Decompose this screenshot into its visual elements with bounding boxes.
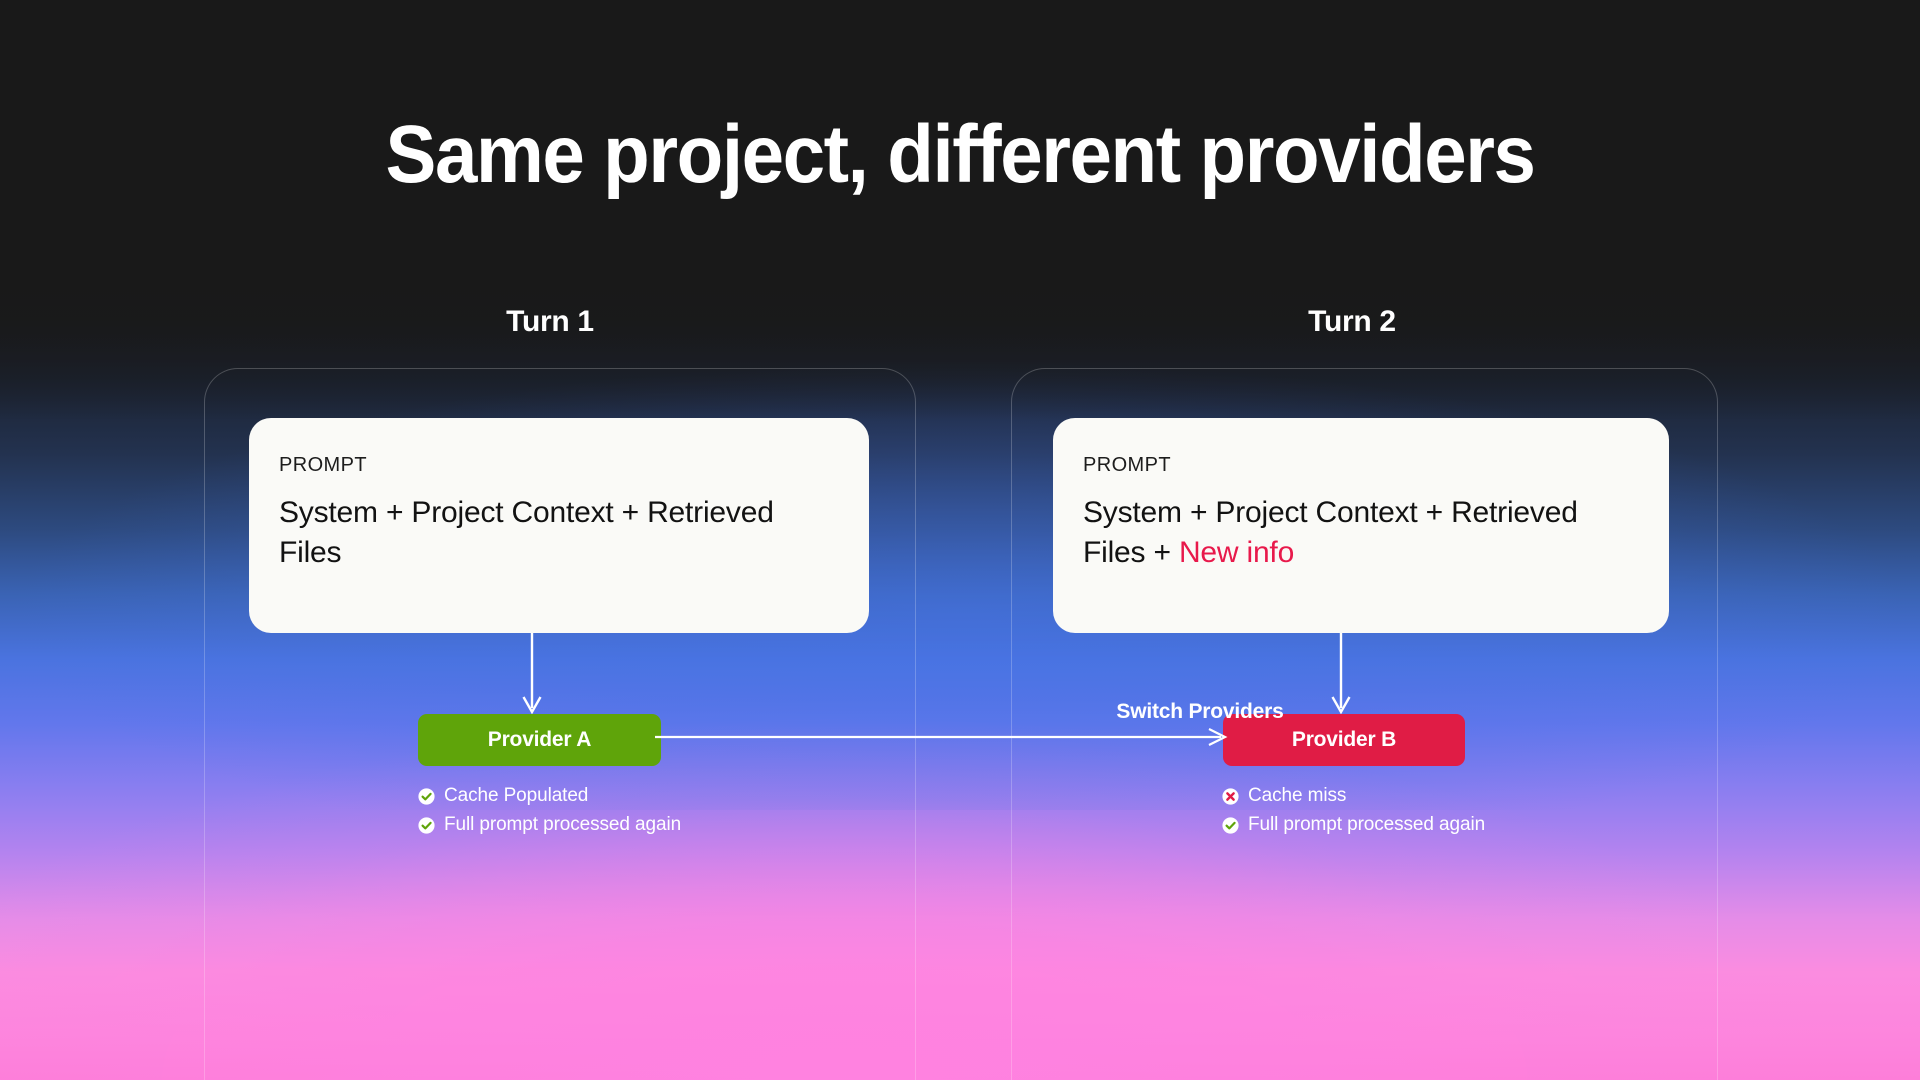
list-item-label: Full prompt processed again	[1248, 814, 1485, 836]
list-item: Full prompt processed again	[1222, 814, 1485, 836]
switch-providers-label: Switch Providers	[700, 700, 1700, 724]
provider-a-label: Provider A	[488, 728, 591, 752]
prompt-kicker: PROMPT	[1083, 454, 1639, 477]
list-item: Cache miss	[1222, 785, 1485, 807]
turn-1-heading: Turn 1	[420, 305, 680, 339]
prompt-body-highlight: New info	[1179, 536, 1294, 569]
prompt-body-plain: System + Project Context + Retrieved Fil…	[279, 496, 774, 569]
turn-2-heading: Turn 2	[1222, 305, 1482, 339]
check-circle-icon	[1222, 817, 1239, 834]
provider-b-label: Provider B	[1292, 728, 1396, 752]
turn-1-prompt-card: PROMPT System + Project Context + Retrie…	[249, 418, 869, 633]
page-title: Same project, different providers	[67, 108, 1853, 202]
diagram-canvas: Same project, different providers Turn 1…	[0, 0, 1920, 1080]
check-circle-icon	[418, 817, 435, 834]
prompt-kicker: PROMPT	[279, 454, 839, 477]
turn-1-outcomes: Cache Populated Full prompt processed ag…	[418, 785, 681, 843]
x-circle-icon	[1222, 788, 1239, 805]
list-item-label: Full prompt processed again	[444, 814, 681, 836]
list-item-label: Cache miss	[1248, 785, 1346, 807]
check-circle-icon	[418, 788, 435, 805]
prompt-body: System + Project Context + Retrieved Fil…	[279, 493, 839, 573]
prompt-body: System + Project Context + Retrieved Fil…	[1083, 493, 1639, 573]
list-item: Cache Populated	[418, 785, 681, 807]
provider-a-node[interactable]: Provider A	[418, 714, 661, 766]
turn-2-prompt-card: PROMPT System + Project Context + Retrie…	[1053, 418, 1669, 633]
list-item-label: Cache Populated	[444, 785, 588, 807]
prompt-body-plain: System + Project Context + Retrieved Fil…	[1083, 496, 1578, 569]
list-item: Full prompt processed again	[418, 814, 681, 836]
turn-2-outcomes: Cache miss Full prompt processed again	[1222, 785, 1485, 843]
